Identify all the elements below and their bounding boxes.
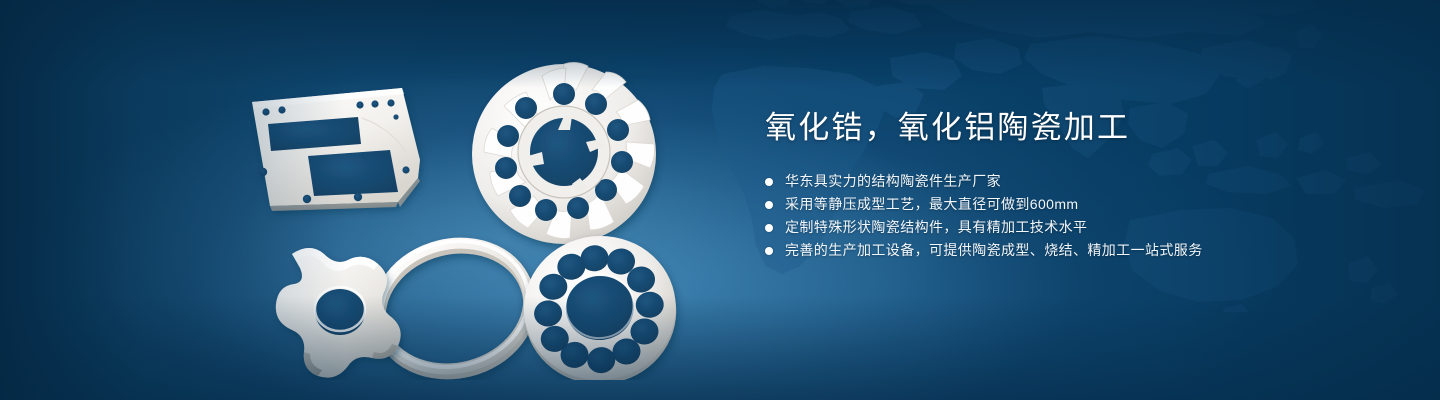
list-item: 华东具实力的结构陶瓷件生产厂家 xyxy=(765,170,1385,193)
bullet-label: 完善的生产加工设备，可提供陶瓷成型、烧结、精加工一站式服务 xyxy=(785,239,1203,262)
banner-headline: 氧化锆，氧化铝陶瓷加工 xyxy=(765,108,1385,148)
bullet-label: 定制特殊形状陶瓷结构件，具有精加工技术水平 xyxy=(785,216,1087,239)
list-item: 完善的生产加工设备，可提供陶瓷成型、烧结、精加工一站式服务 xyxy=(765,239,1385,262)
dot-bullet-icon xyxy=(765,247,773,255)
dot-bullet-icon xyxy=(765,224,773,232)
dot-bullet-icon xyxy=(765,201,773,209)
list-item: 定制特殊形状陶瓷结构件，具有精加工技术水平 xyxy=(765,216,1385,239)
banner-bullet-list: 华东具实力的结构陶瓷件生产厂家 采用等静压成型工艺，最大直径可做到600mm 定… xyxy=(765,170,1385,262)
bullet-label: 采用等静压成型工艺，最大直径可做到600mm xyxy=(785,193,1078,216)
hero-banner: 氧化锆，氧化铝陶瓷加工 华东具实力的结构陶瓷件生产厂家 采用等静压成型工艺，最大… xyxy=(0,0,1440,400)
dot-bullet-icon xyxy=(765,178,773,186)
banner-text-block: 氧化锆，氧化铝陶瓷加工 华东具实力的结构陶瓷件生产厂家 采用等静压成型工艺，最大… xyxy=(765,108,1385,262)
bullet-label: 华东具实力的结构陶瓷件生产厂家 xyxy=(785,170,1001,193)
list-item: 采用等静压成型工艺，最大直径可做到600mm xyxy=(765,193,1385,216)
